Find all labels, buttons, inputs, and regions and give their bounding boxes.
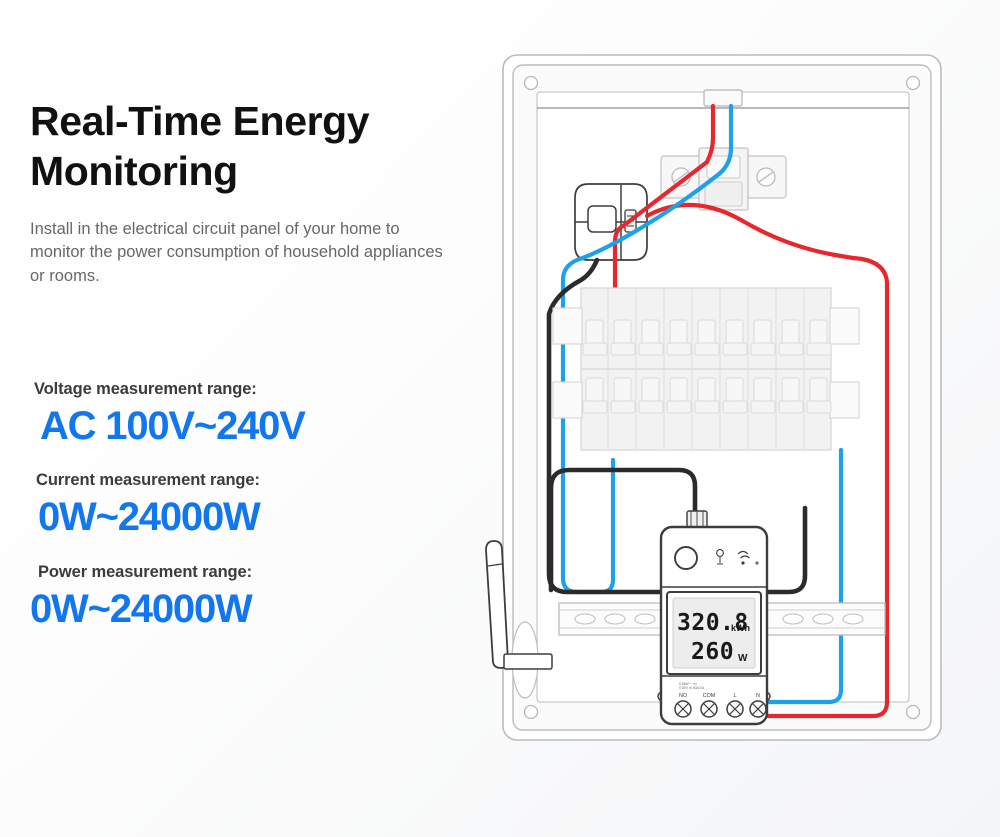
din-slot xyxy=(843,614,863,624)
enclosure-screw xyxy=(907,706,920,719)
din-slot xyxy=(575,614,595,624)
din-slot xyxy=(783,614,803,624)
page-title: Real-Time Energy Monitoring xyxy=(30,96,470,196)
status-dot xyxy=(755,561,758,564)
svg-text:NO: NO xyxy=(679,693,687,699)
power-button[interactable] xyxy=(675,547,697,569)
enclosure-screw xyxy=(907,77,920,90)
breaker-bank xyxy=(553,288,859,450)
text-column: Real-Time Energy Monitoring Install in t… xyxy=(30,96,470,288)
lcd-power-value: 260 xyxy=(691,639,734,665)
breaker-module xyxy=(807,378,831,413)
spec-value-voltage: AC 100V~240V xyxy=(40,405,470,447)
svg-text:COM: COM xyxy=(703,693,716,699)
description-text: Install in the electrical circuit panel … xyxy=(30,218,445,288)
enclosure-screw xyxy=(525,706,538,719)
enclosure-screw xyxy=(525,77,538,90)
spec-value-current: 0W~24000W xyxy=(38,496,470,538)
svg-text:N: N xyxy=(756,693,760,699)
spec-value-power: 0W~24000W xyxy=(30,588,470,630)
spec-label-voltage: Voltage measurement range: xyxy=(34,380,470,399)
lcd-energy-unit: kWh xyxy=(731,623,750,633)
svg-text:L: L xyxy=(734,693,737,699)
lcd-power-unit: W xyxy=(738,653,748,664)
terminal-com: COM xyxy=(701,693,717,717)
spec-item-voltage: Voltage measurement range: AC 100V~240V xyxy=(30,380,470,447)
device-microprint-line2: 0-50V m 50A DA xyxy=(679,686,705,690)
panel-diagram: 320.8 kWh 260 W 0.5kW~~ xx 0-50V m 50A D… xyxy=(455,30,1000,820)
infographic-page: Real-Time Energy Monitoring Install in t… xyxy=(0,0,1000,837)
breaker-module xyxy=(807,320,831,355)
spec-list: Voltage measurement range: AC 100V~240V … xyxy=(30,380,470,654)
antenna-base xyxy=(504,654,552,669)
energy-meter-device: 320.8 kWh 260 W 0.5kW~~ xx 0-50V m 50A D… xyxy=(658,511,770,724)
spec-label-current: Current measurement range: xyxy=(36,471,470,490)
spec-label-power: Power measurement range: xyxy=(38,563,470,582)
din-slot xyxy=(635,614,655,624)
spec-item-power: Power measurement range: 0W~24000W xyxy=(30,563,470,630)
din-slot xyxy=(813,614,833,624)
spec-item-current: Current measurement range: 0W~24000W xyxy=(30,471,470,538)
din-slot xyxy=(605,614,625,624)
